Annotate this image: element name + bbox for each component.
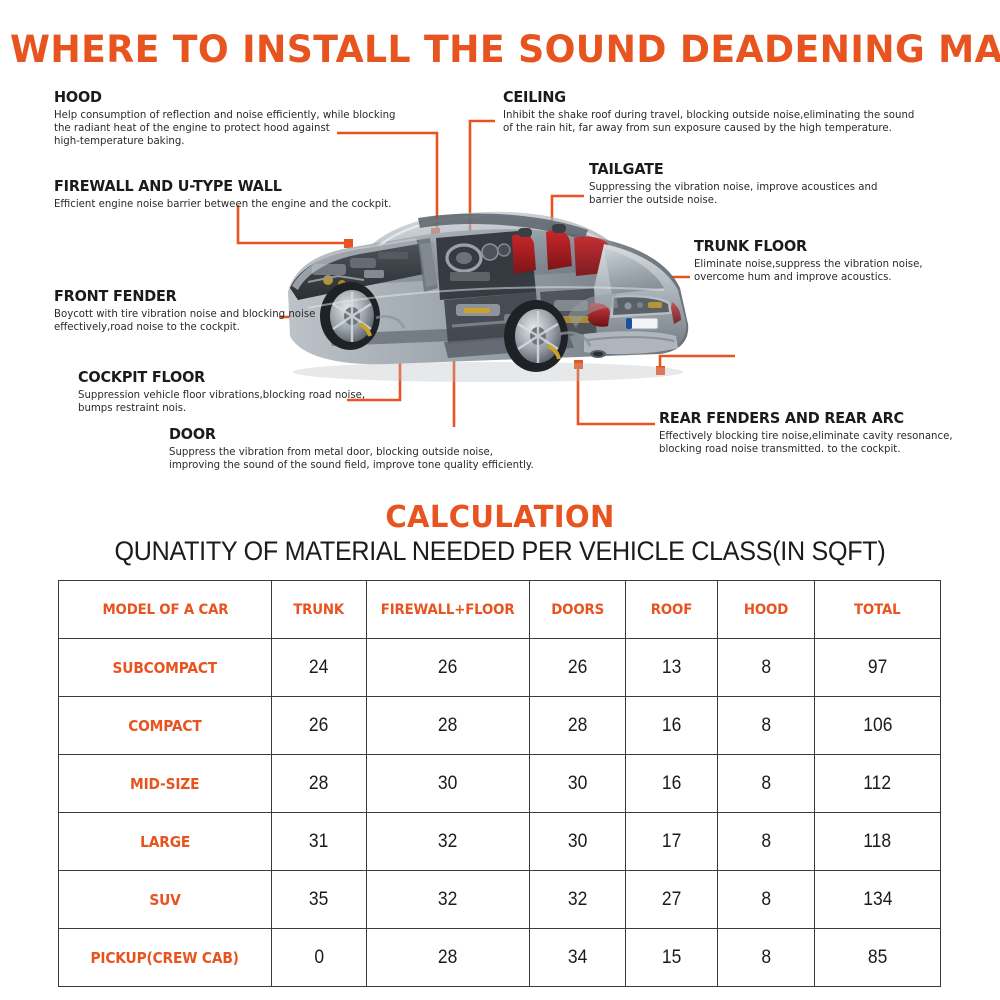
col-header-trunk: TRUNK bbox=[272, 581, 367, 639]
cell-hood: 8 bbox=[718, 813, 815, 871]
cell-total: 134 bbox=[815, 871, 941, 929]
cell-firewall-floor: 32 bbox=[367, 813, 530, 871]
callout-cockpit-floor-title: COCKPIT FLOOR bbox=[78, 368, 356, 386]
page-title: WHERE TO INSTALL THE SOUND DEADENING MAT… bbox=[10, 28, 990, 71]
cell-trunk: 35 bbox=[272, 871, 367, 929]
row-model: PICKUP(CREW CAB) bbox=[59, 929, 272, 987]
cell-trunk: 28 bbox=[272, 755, 367, 813]
cell-doors: 30 bbox=[530, 755, 626, 813]
callout-tailgate: TAILGATE Suppressing the vibration noise… bbox=[589, 160, 889, 207]
cell-doors: 28 bbox=[530, 697, 626, 755]
callout-front-fender-title: FRONT FENDER bbox=[54, 287, 307, 305]
cell-hood: 8 bbox=[718, 697, 815, 755]
cell-total: 97 bbox=[815, 639, 941, 697]
callout-tailgate-title: TAILGATE bbox=[589, 160, 868, 178]
cell-roof: 13 bbox=[626, 639, 718, 697]
row-model: SUV bbox=[59, 871, 272, 929]
callout-front-fender: FRONT FENDER Boycott with tire vibration… bbox=[54, 287, 326, 334]
table-row: LARGE 31 32 30 17 8 118 bbox=[59, 813, 941, 871]
col-header-firewall-floor: FIREWALL+FLOOR bbox=[367, 581, 530, 639]
cell-roof: 16 bbox=[626, 755, 718, 813]
cell-hood: 8 bbox=[718, 755, 815, 813]
callout-trunk-floor: TRUNK FLOOR Eliminate noise,suppress the… bbox=[694, 237, 932, 284]
infographic-page: WHERE TO INSTALL THE SOUND DEADENING MAT… bbox=[0, 0, 1000, 1000]
material-quantity-table: MODEL OF A CAR TRUNK FIREWALL+FLOOR DOOR… bbox=[58, 580, 941, 987]
callout-rear-fenders-body: Effectively blocking tire noise,eliminat… bbox=[659, 430, 953, 456]
row-model: SUBCOMPACT bbox=[59, 639, 272, 697]
cell-total: 106 bbox=[815, 697, 941, 755]
table-row: MID-SIZE 28 30 30 16 8 112 bbox=[59, 755, 941, 813]
row-model: COMPACT bbox=[59, 697, 272, 755]
calculation-subtitle: QUNATITY OF MATERIAL NEEDED PER VEHICLE … bbox=[35, 536, 965, 567]
car-cutaway-illustration bbox=[268, 196, 708, 396]
cell-trunk: 31 bbox=[272, 813, 367, 871]
cell-firewall-floor: 28 bbox=[367, 697, 530, 755]
cell-doors: 30 bbox=[530, 813, 626, 871]
cell-doors: 34 bbox=[530, 929, 626, 987]
cell-firewall-floor: 30 bbox=[367, 755, 530, 813]
cell-doors: 32 bbox=[530, 871, 626, 929]
cell-trunk: 0 bbox=[272, 929, 367, 987]
cell-firewall-floor: 28 bbox=[367, 929, 530, 987]
callout-hood-body: Help consumption of reflection and noise… bbox=[54, 109, 395, 149]
col-header-total: TOTAL bbox=[815, 581, 941, 639]
cell-hood: 8 bbox=[718, 929, 815, 987]
col-header-doors: DOORS bbox=[530, 581, 626, 639]
callout-firewall-title: FIREWALL AND U-TYPE WALL bbox=[54, 177, 381, 195]
col-header-hood: HOOD bbox=[718, 581, 815, 639]
table-header-row: MODEL OF A CAR TRUNK FIREWALL+FLOOR DOOR… bbox=[59, 581, 941, 639]
callout-rear-fenders-title: REAR FENDERS AND REAR ARC bbox=[659, 409, 943, 427]
callout-rear-fenders: REAR FENDERS AND REAR ARC Effectively bl… bbox=[659, 409, 965, 456]
callout-hood: HOOD Help consumption of reflection and … bbox=[54, 88, 410, 149]
callout-cockpit-floor-body: Suppression vehicle floor vibrations,blo… bbox=[78, 389, 365, 415]
cell-doors: 26 bbox=[530, 639, 626, 697]
callout-hood-title: HOOD bbox=[54, 88, 385, 106]
cell-total: 118 bbox=[815, 813, 941, 871]
row-model: LARGE bbox=[59, 813, 272, 871]
callout-ceiling-body: Inhibit the shake roof during travel, bl… bbox=[503, 109, 914, 135]
table-row: SUV 35 32 32 27 8 134 bbox=[59, 871, 941, 929]
callout-door-body: Suppress the vibration from metal door, … bbox=[169, 446, 534, 472]
cell-roof: 15 bbox=[626, 929, 718, 987]
cell-trunk: 26 bbox=[272, 697, 367, 755]
cell-roof: 27 bbox=[626, 871, 718, 929]
cell-trunk: 24 bbox=[272, 639, 367, 697]
callout-door: DOOR Suppress the vibration from metal d… bbox=[169, 425, 549, 472]
col-header-roof: ROOF bbox=[626, 581, 718, 639]
cell-hood: 8 bbox=[718, 871, 815, 929]
callout-tailgate-body: Suppressing the vibration noise, improve… bbox=[589, 181, 877, 207]
cell-roof: 16 bbox=[626, 697, 718, 755]
table-row: SUBCOMPACT 24 26 26 13 8 97 bbox=[59, 639, 941, 697]
callout-front-fender-body: Boycott with tire vibration noise and bl… bbox=[54, 308, 315, 334]
table-row: PICKUP(CREW CAB) 0 28 34 15 8 85 bbox=[59, 929, 941, 987]
cell-hood: 8 bbox=[718, 639, 815, 697]
callout-firewall: FIREWALL AND U-TYPE WALL Efficient engin… bbox=[54, 177, 405, 211]
cell-firewall-floor: 32 bbox=[367, 871, 530, 929]
callout-cockpit-floor: COCKPIT FLOOR Suppression vehicle floor … bbox=[78, 368, 377, 415]
callout-door-title: DOOR bbox=[169, 425, 522, 443]
cell-total: 112 bbox=[815, 755, 941, 813]
col-header-model: MODEL OF A CAR bbox=[59, 581, 272, 639]
callout-ceiling-title: CEILING bbox=[503, 88, 902, 106]
callout-firewall-body: Efficient engine noise barrier between t… bbox=[54, 198, 391, 211]
row-model: MID-SIZE bbox=[59, 755, 272, 813]
calculation-title: CALCULATION bbox=[15, 500, 985, 535]
table-row: COMPACT 26 28 28 16 8 106 bbox=[59, 697, 941, 755]
cell-total: 85 bbox=[815, 929, 941, 987]
callout-ceiling: CEILING Inhibit the shake roof during tr… bbox=[503, 88, 932, 135]
callout-trunk-floor-body: Eliminate noise,suppress the vibration n… bbox=[694, 258, 923, 284]
cell-roof: 17 bbox=[626, 813, 718, 871]
cell-firewall-floor: 26 bbox=[367, 639, 530, 697]
callout-trunk-floor-title: TRUNK FLOOR bbox=[694, 237, 915, 255]
